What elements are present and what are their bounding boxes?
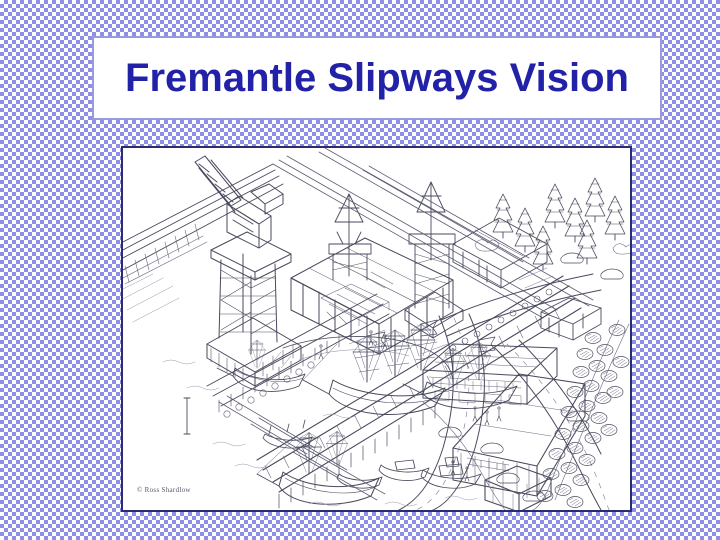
title-placeholder[interactable]: Fremantle Slipways Vision xyxy=(92,36,662,120)
page-title: Fremantle Slipways Vision xyxy=(125,58,629,98)
slide-canvas: Fremantle Slipways Vision xyxy=(0,0,720,540)
slipways-illustration: © Ross Shardlow xyxy=(123,148,630,510)
copyright-credit: © Ross Shardlow xyxy=(137,486,191,494)
slipways-line-art xyxy=(123,148,630,510)
illustration-frame[interactable]: © Ross Shardlow xyxy=(121,146,632,512)
